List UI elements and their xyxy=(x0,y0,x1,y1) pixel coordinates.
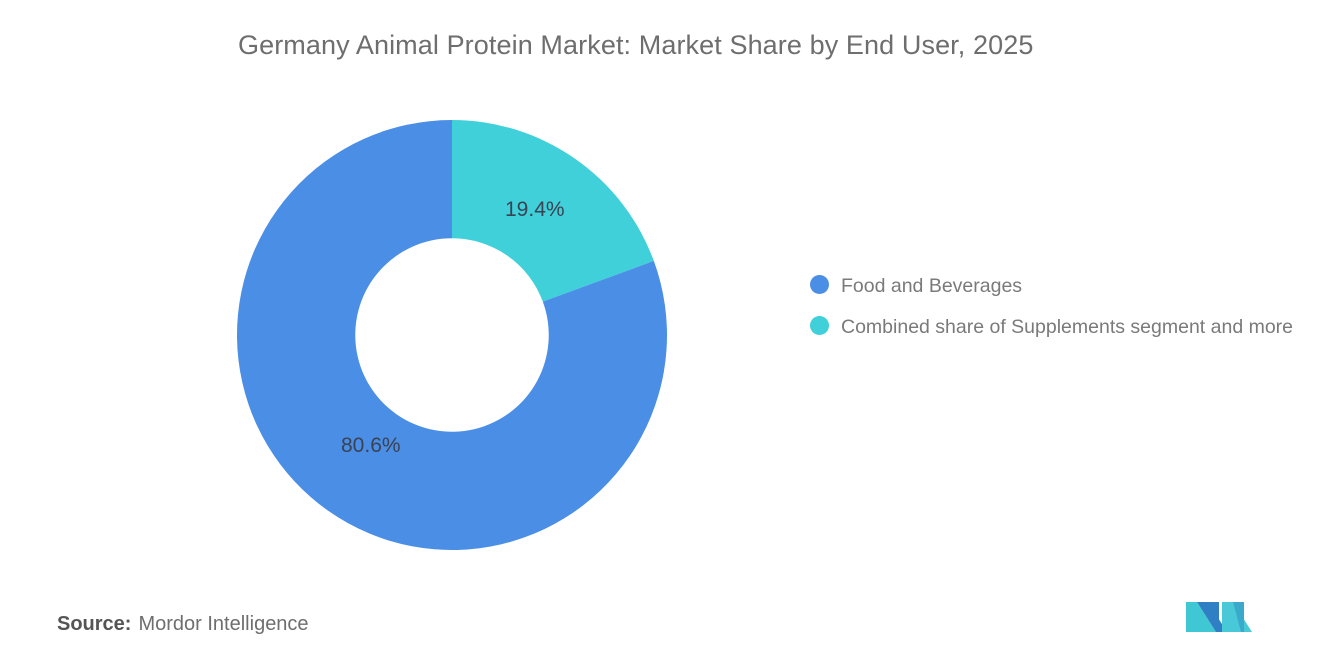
legend-swatch-icon xyxy=(810,316,829,335)
donut-chart: 80.6% 19.4% xyxy=(237,120,667,550)
page-title: Germany Animal Protein Market: Market Sh… xyxy=(238,30,1033,61)
slice-label-food-and-beverages: 80.6% xyxy=(341,434,401,458)
source-attribution: Source:Mordor Intelligence xyxy=(57,613,309,636)
legend-item-supplements-and-more[interactable]: Combined share of Supplements segment an… xyxy=(810,313,1310,342)
slice-label-supplements-and-more: 19.4% xyxy=(505,198,565,222)
donut-chart-svg xyxy=(237,120,667,550)
chart-legend: Food and Beverages Combined share of Sup… xyxy=(810,272,1310,354)
legend-item-label: Combined share of Supplements segment an… xyxy=(841,313,1293,342)
source-value: Mordor Intelligence xyxy=(138,613,308,635)
legend-item-food-and-beverages[interactable]: Food and Beverages xyxy=(810,272,1310,301)
legend-item-label: Food and Beverages xyxy=(841,272,1022,301)
source-label: Source: xyxy=(57,613,131,635)
mordor-intelligence-logo-icon xyxy=(1186,594,1254,634)
legend-swatch-icon xyxy=(810,275,829,294)
